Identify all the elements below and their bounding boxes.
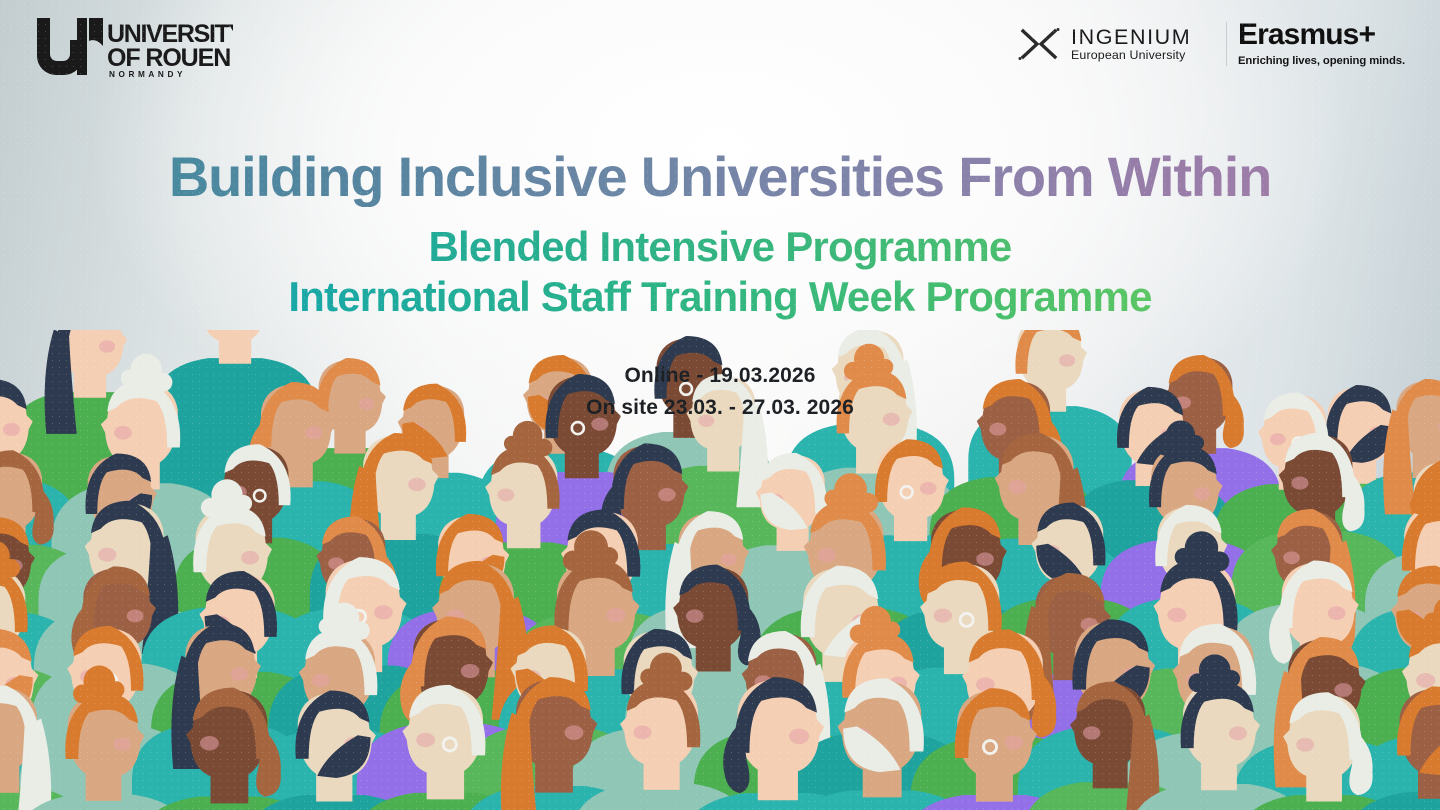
logo-divider xyxy=(1226,22,1227,66)
poster-canvas: UNIVERSITY OF ROUEN NORMANDY INGENIUM Eu… xyxy=(0,0,1440,810)
x-mark-icon xyxy=(1017,24,1061,64)
subtitle-primary: Blended Intensive Programme xyxy=(0,223,1440,271)
rouen-line-2: OF ROUEN xyxy=(107,44,230,72)
header: UNIVERSITY OF ROUEN NORMANDY INGENIUM Eu… xyxy=(0,0,1440,100)
text-block: Building Inclusive Universities From Wit… xyxy=(0,148,1440,423)
date-online: Online - 19.03.2026 xyxy=(0,360,1440,392)
erasmus-tagline: Enriching lives, opening minds. xyxy=(1238,55,1405,67)
date-onsite: On site 23.03. - 27.03. 2026 xyxy=(0,392,1440,424)
ingenium-logo: INGENIUM European University xyxy=(1017,24,1191,64)
page-title: Building Inclusive Universities From Wit… xyxy=(0,148,1440,207)
university-of-rouen-logo: UNIVERSITY OF ROUEN NORMANDY xyxy=(33,14,233,80)
ingenium-name: INGENIUM xyxy=(1071,27,1191,49)
rouen-line-3: NORMANDY xyxy=(109,70,186,79)
ingenium-subtitle: European University xyxy=(1071,49,1191,61)
erasmus-name: Erasmus+ xyxy=(1238,20,1405,50)
date-block: Online - 19.03.2026 On site 23.03. - 27.… xyxy=(0,360,1440,423)
subtitle-secondary: International Staff Training Week Progra… xyxy=(0,271,1440,322)
erasmus-logo: Erasmus+ Enriching lives, opening minds. xyxy=(1238,20,1405,67)
